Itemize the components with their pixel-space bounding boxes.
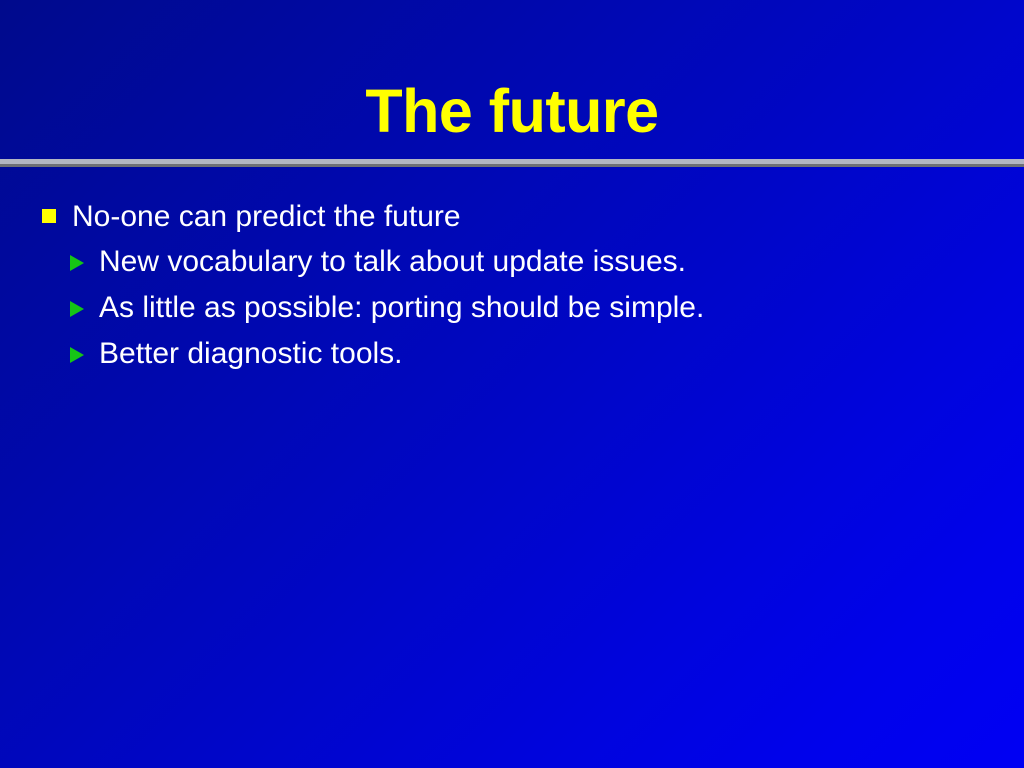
title-divider <box>0 158 1024 168</box>
list-item: New vocabulary to talk about update issu… <box>0 240 1024 286</box>
list-item: As little as possible: porting should be… <box>0 286 1024 332</box>
divider-shadow-band <box>0 164 1024 167</box>
list-item-label: Better diagnostic tools. <box>99 332 403 376</box>
page-title: The future <box>365 81 658 142</box>
slide-title-area: The future <box>0 72 1024 150</box>
list-item-label: New vocabulary to talk about update issu… <box>99 240 686 284</box>
yellow-square-bullet-icon <box>42 209 56 223</box>
list-item: No-one can predict the future <box>0 196 1024 240</box>
presentation-slide: The future No-one can predict the future… <box>0 0 1024 768</box>
list-item-label: No-one can predict the future <box>72 196 461 238</box>
list-item-label: As little as possible: porting should be… <box>99 286 704 330</box>
green-triangle-bullet-icon <box>70 347 84 363</box>
slide-body: No-one can predict the future New vocabu… <box>0 196 1024 378</box>
green-triangle-bullet-icon <box>70 301 84 317</box>
green-triangle-bullet-icon <box>70 255 84 271</box>
list-item: Better diagnostic tools. <box>0 332 1024 378</box>
